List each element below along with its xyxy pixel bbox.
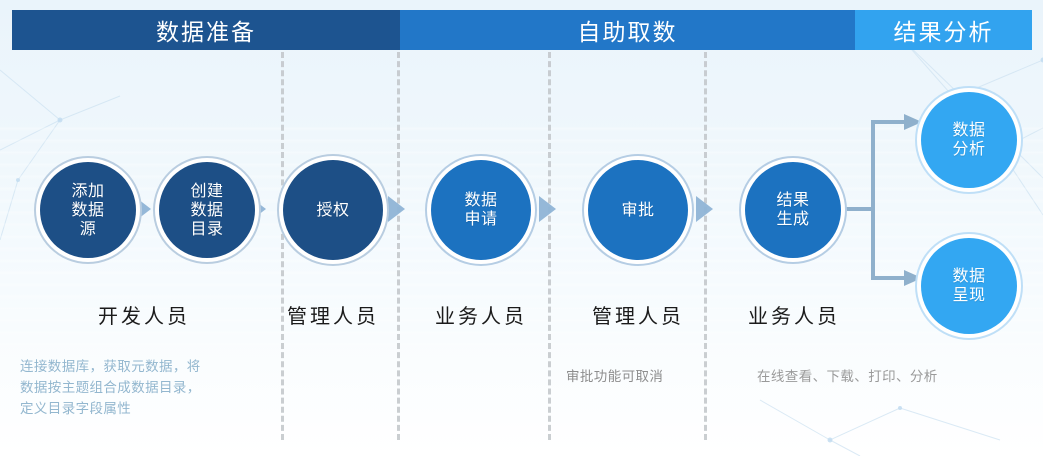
role-label-business-2: 业务人员: [714, 300, 874, 329]
node-data-analysis[interactable]: 数据 分析: [921, 92, 1017, 188]
node-result-generate[interactable]: 结果 生成: [745, 162, 841, 258]
phase-header-data-preparation: 数据准备: [12, 10, 400, 50]
phase-header-self-service-fetch: 自助取数: [400, 10, 855, 50]
step-arrow-4: [539, 196, 556, 222]
node-authorize[interactable]: 授权: [283, 160, 383, 260]
role-text: 业务人员: [435, 306, 527, 328]
node-label: 授权: [316, 201, 349, 220]
node-label: 审批: [621, 201, 654, 220]
role-text: 开发人员: [98, 306, 190, 328]
step-arrow-1: [134, 196, 151, 222]
node-create-catalog[interactable]: 创建 数据 目录: [159, 162, 255, 258]
node-label: 数据 分析: [952, 121, 985, 159]
node-label: 添加 数据 源: [71, 182, 104, 239]
flowchart-diagram: 数据准备 自助取数 结果分析 添加 数据 源 创建 数据 目录 授权: [0, 0, 1043, 456]
phase-header-label: 数据准备: [156, 13, 256, 47]
node-label: 结果 生成: [776, 191, 809, 229]
role-label-developer-1: 开发人员: [64, 300, 224, 329]
node-approval[interactable]: 审批: [588, 160, 688, 260]
step-arrow-5: [696, 196, 713, 222]
node-label: 数据 申请: [464, 191, 497, 229]
phase-header-result-analysis: 结果分析: [855, 10, 1032, 50]
description-result: 在线查看、下载、打印、分析: [757, 366, 1037, 387]
step-arrow-3: [388, 196, 405, 222]
lane-divider-2: [397, 52, 400, 440]
description-data-preparation: 连接数据库，获取元数据，将 数据按主题组合成数据目录， 定义目录字段属性: [20, 356, 290, 419]
node-label: 创建 数据 目录: [190, 182, 223, 239]
node-add-data-source[interactable]: 添加 数据 源: [40, 162, 136, 258]
role-text: 业务人员: [748, 306, 840, 328]
phase-header-label: 自助取数: [578, 13, 678, 47]
role-label-admin-1: 管理人员: [253, 300, 413, 329]
role-label-admin-2: 管理人员: [558, 300, 718, 329]
description-approval: 审批功能可取消: [566, 366, 746, 387]
role-text: 管理人员: [287, 306, 379, 328]
phase-header-label: 结果分析: [894, 13, 994, 47]
node-label: 数据 呈现: [952, 267, 985, 305]
role-text: 管理人员: [592, 306, 684, 328]
role-label-business-1: 业务人员: [401, 300, 561, 329]
lane-divider-3: [548, 52, 551, 440]
node-data-presentation[interactable]: 数据 呈现: [921, 238, 1017, 334]
node-data-request[interactable]: 数据 申请: [431, 160, 531, 260]
